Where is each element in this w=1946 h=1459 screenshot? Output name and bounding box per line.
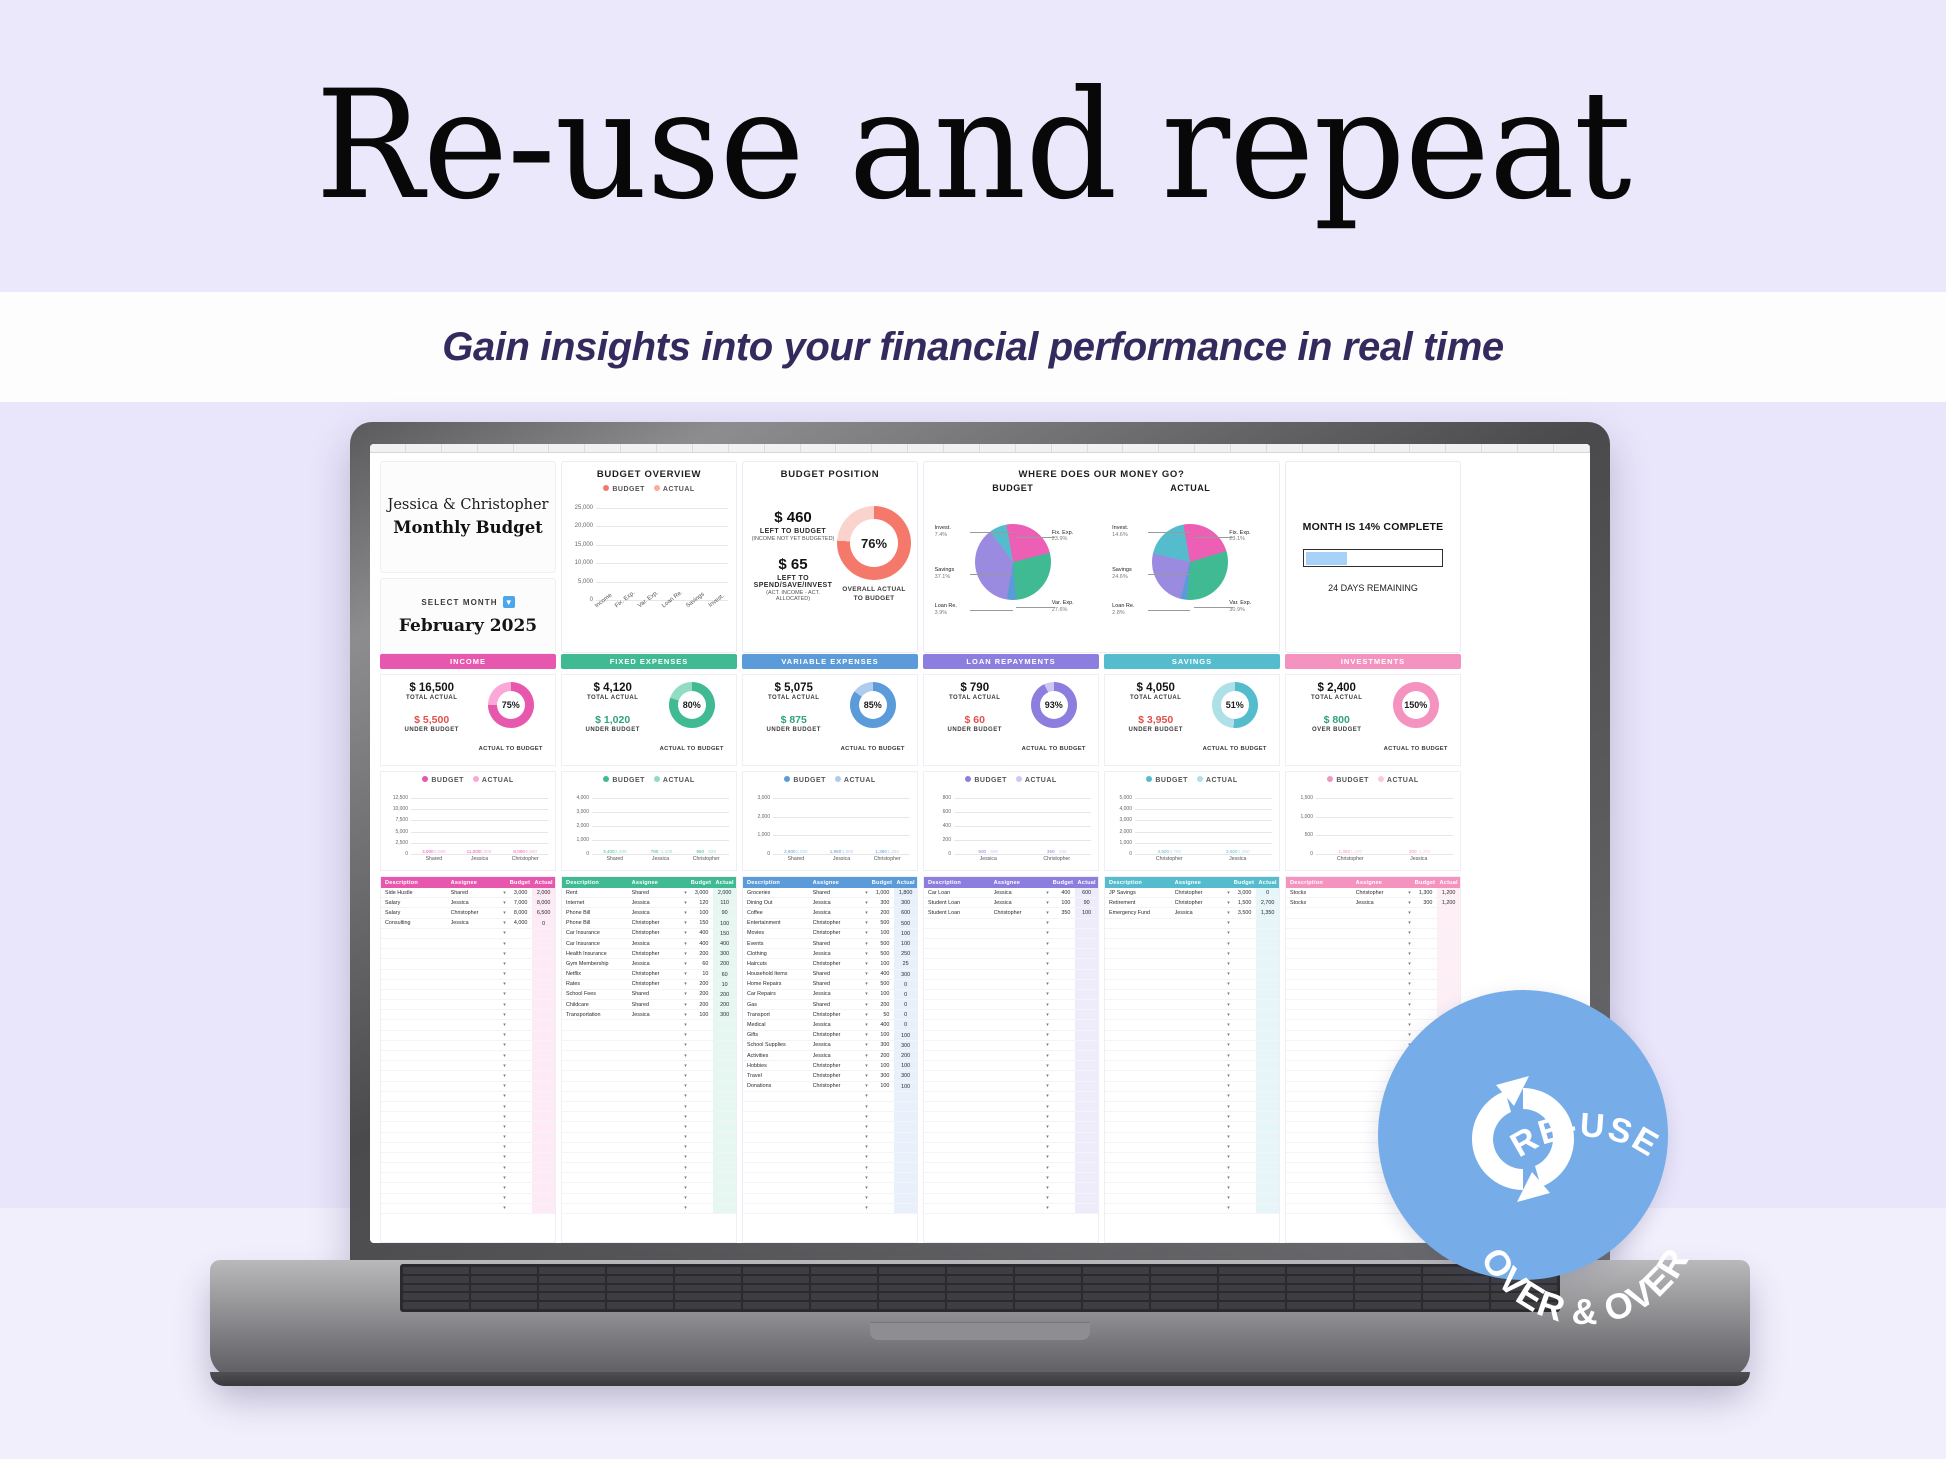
assignee-dropdown-icon[interactable]: ▾	[1223, 1093, 1233, 1099]
assignee-dropdown-icon[interactable]: ▾	[1223, 941, 1233, 947]
table-row[interactable]: ▾	[924, 980, 1098, 990]
table-row[interactable]: ▾	[924, 1122, 1098, 1132]
cell-assignee[interactable]: Jessica	[632, 900, 681, 906]
cell-description[interactable]: Donations	[743, 1083, 813, 1089]
assignee-dropdown-icon[interactable]: ▾	[680, 1104, 690, 1110]
table-row[interactable]: ▾	[924, 1020, 1098, 1030]
cell-actual[interactable]	[1256, 1183, 1279, 1192]
cell-actual[interactable]	[1256, 939, 1279, 948]
assignee-dropdown-icon[interactable]: ▾	[1042, 1073, 1052, 1079]
table-row[interactable]: ▾	[562, 1102, 736, 1112]
cell-actual[interactable]	[1075, 1000, 1098, 1009]
cell-actual[interactable]	[1256, 1133, 1279, 1142]
table-row[interactable]: ▾	[562, 1153, 736, 1163]
assignee-dropdown-icon[interactable]: ▾	[861, 1022, 871, 1028]
cell-actual[interactable]: 110	[713, 898, 736, 907]
table-row[interactable]: ▾	[1286, 970, 1460, 980]
cell-budget[interactable]: 200	[691, 981, 714, 987]
table-row[interactable]: ▾	[381, 1163, 555, 1173]
table-row[interactable]: Household ItemsShared▾400300	[743, 970, 917, 980]
cell-description[interactable]: Salary	[381, 900, 451, 906]
cell-description[interactable]: Clothing	[743, 951, 813, 957]
table-row[interactable]: ▾	[743, 1143, 917, 1153]
assignee-dropdown-icon[interactable]: ▾	[861, 1083, 871, 1089]
cell-actual[interactable]	[1256, 1092, 1279, 1101]
table-row[interactable]: Emergency FundJessica▾3,5001,350	[1105, 908, 1279, 918]
cell-budget[interactable]: 300	[1415, 900, 1438, 906]
assignee-dropdown-icon[interactable]: ▾	[1042, 1175, 1052, 1181]
cell-description[interactable]: Medical	[743, 1022, 813, 1028]
table-row[interactable]: ▾	[381, 1000, 555, 1010]
table-row[interactable]: ▾	[924, 1071, 1098, 1081]
table-row[interactable]: HaircutsChristopher▾10025	[743, 959, 917, 969]
cell-actual[interactable]: 300	[713, 949, 736, 958]
assignee-dropdown-icon[interactable]: ▾	[861, 1154, 871, 1160]
cell-actual[interactable]	[713, 1092, 736, 1101]
cell-actual[interactable]	[1256, 959, 1279, 968]
table-row[interactable]: ▾	[381, 1194, 555, 1204]
table-row[interactable]: ▾	[924, 1183, 1098, 1193]
table-row[interactable]: GiftsChristopher▾100100	[743, 1031, 917, 1041]
table-row[interactable]: ▾	[924, 939, 1098, 949]
cell-actual[interactable]	[894, 1183, 917, 1192]
cell-actual[interactable]	[713, 1041, 736, 1050]
cell-description[interactable]: Stocks	[1286, 900, 1356, 906]
assignee-dropdown-icon[interactable]: ▾	[680, 1185, 690, 1191]
assignee-dropdown-icon[interactable]: ▾	[861, 1185, 871, 1191]
cell-actual[interactable]	[1256, 1112, 1279, 1121]
cell-assignee[interactable]: Jessica	[451, 920, 500, 926]
table-row[interactable]: ▾	[743, 1122, 917, 1132]
assignee-dropdown-icon[interactable]: ▾	[680, 1042, 690, 1048]
table-row[interactable]: ▾	[743, 1102, 917, 1112]
cell-actual[interactable]	[1437, 949, 1460, 958]
assignee-dropdown-icon[interactable]: ▾	[1404, 991, 1414, 997]
table-row[interactable]: ▾	[1105, 939, 1279, 949]
table-row[interactable]: ▾	[1105, 1031, 1279, 1041]
assignee-dropdown-icon[interactable]: ▾	[499, 930, 509, 936]
cell-actual[interactable]	[1075, 939, 1098, 948]
assignee-dropdown-icon[interactable]: ▾	[499, 1083, 509, 1089]
cell-assignee[interactable]: Jessica	[813, 951, 862, 957]
cell-actual[interactable]: 200	[713, 990, 736, 999]
assignee-dropdown-icon[interactable]: ▾	[1223, 930, 1233, 936]
assignee-dropdown-icon[interactable]: ▾	[680, 1002, 690, 1008]
table-row[interactable]: ▾	[1105, 1092, 1279, 1102]
table-row[interactable]: SalaryJessica▾7,0008,000	[381, 898, 555, 908]
cell-actual[interactable]	[1075, 990, 1098, 999]
assignee-dropdown-icon[interactable]: ▾	[1223, 961, 1233, 967]
assignee-dropdown-icon[interactable]: ▾	[1042, 1083, 1052, 1089]
cell-description[interactable]: Groceries	[743, 890, 813, 896]
cell-actual[interactable]: 6,500	[532, 908, 555, 917]
cell-actual[interactable]: 1,200	[1437, 898, 1460, 907]
cell-actual[interactable]	[894, 1143, 917, 1152]
table-row[interactable]: ▾	[1105, 1163, 1279, 1173]
cell-budget[interactable]: 400	[1053, 890, 1076, 896]
cell-actual[interactable]	[894, 1204, 917, 1213]
assignee-dropdown-icon[interactable]: ▾	[499, 1053, 509, 1059]
cell-description[interactable]: Phone Bill	[562, 920, 632, 926]
cell-budget[interactable]: 500	[872, 920, 895, 926]
cell-description[interactable]: Stocks	[1286, 890, 1356, 896]
cell-budget[interactable]: 200	[691, 951, 714, 957]
cell-description[interactable]: Car Repairs	[743, 991, 813, 997]
assignee-dropdown-icon[interactable]: ▾	[1042, 961, 1052, 967]
assignee-dropdown-icon[interactable]: ▾	[1223, 1195, 1233, 1201]
cell-assignee[interactable]: Jessica	[632, 910, 681, 916]
table-row[interactable]: ▾	[1105, 1183, 1279, 1193]
assignee-dropdown-icon[interactable]: ▾	[1223, 1053, 1233, 1059]
cell-budget[interactable]: 10	[691, 971, 714, 977]
assignee-dropdown-icon[interactable]: ▾	[1042, 941, 1052, 947]
cell-assignee[interactable]: Christopher	[1175, 900, 1224, 906]
table-row[interactable]: ▾	[924, 1163, 1098, 1173]
cell-actual[interactable]	[713, 1020, 736, 1029]
table-row[interactable]: ▾	[562, 1194, 736, 1204]
assignee-dropdown-icon[interactable]: ▾	[680, 1022, 690, 1028]
table-row[interactable]: ▾	[562, 1041, 736, 1051]
cell-actual[interactable]: 0	[894, 980, 917, 989]
table-row[interactable]: ▾	[743, 1194, 917, 1204]
assignee-dropdown-icon[interactable]: ▾	[680, 1083, 690, 1089]
assignee-dropdown-icon[interactable]: ▾	[1223, 1002, 1233, 1008]
cell-budget[interactable]: 300	[872, 1073, 895, 1079]
assignee-dropdown-icon[interactable]: ▾	[680, 1124, 690, 1130]
assignee-dropdown-icon[interactable]: ▾	[499, 1104, 509, 1110]
assignee-dropdown-icon[interactable]: ▾	[680, 1154, 690, 1160]
assignee-dropdown-icon[interactable]: ▾	[1223, 1124, 1233, 1130]
assignee-dropdown-icon[interactable]: ▾	[1223, 920, 1233, 926]
table-row[interactable]: ▾	[1105, 1173, 1279, 1183]
cell-assignee[interactable]: Christopher	[632, 951, 681, 957]
table-row[interactable]: ▾	[381, 959, 555, 969]
table-row[interactable]: ▾	[562, 1061, 736, 1071]
cell-actual[interactable]	[1075, 1163, 1098, 1172]
table-row[interactable]: Car LoanJessica▾400600	[924, 888, 1098, 898]
cell-actual[interactable]	[532, 929, 555, 938]
table-row[interactable]: ▾	[381, 1112, 555, 1122]
table-row[interactable]: ▾	[381, 1183, 555, 1193]
cell-actual[interactable]	[894, 1153, 917, 1162]
assignee-dropdown-icon[interactable]: ▾	[1223, 1114, 1233, 1120]
table-row[interactable]: ▾	[1105, 1112, 1279, 1122]
table-row[interactable]: ▾	[1105, 1071, 1279, 1081]
cell-assignee[interactable]: Christopher	[813, 1063, 862, 1069]
assignee-dropdown-icon[interactable]: ▾	[680, 1144, 690, 1150]
cell-actual[interactable]	[1256, 1000, 1279, 1009]
assignee-dropdown-icon[interactable]: ▾	[861, 1124, 871, 1130]
assignee-dropdown-icon[interactable]: ▾	[499, 900, 509, 906]
table-row[interactable]: NetflixChristopher▾1060	[562, 970, 736, 980]
table-row[interactable]: GasShared▾2000	[743, 1000, 917, 1010]
table-row[interactable]: EntertainmentChristopher▾500500	[743, 919, 917, 929]
assignee-dropdown-icon[interactable]: ▾	[680, 1195, 690, 1201]
table-row[interactable]: ▾	[1286, 990, 1460, 1000]
assignee-dropdown-icon[interactable]: ▾	[1223, 910, 1233, 916]
table-row[interactable]: SalaryChristopher▾8,0006,500	[381, 908, 555, 918]
cell-actual[interactable]	[532, 959, 555, 968]
cell-actual[interactable]: 1,200	[1437, 888, 1460, 897]
cell-actual[interactable]: 300	[894, 1041, 917, 1050]
assignee-dropdown-icon[interactable]: ▾	[499, 1154, 509, 1160]
assignee-dropdown-icon[interactable]: ▾	[680, 961, 690, 967]
table-row[interactable]: StocksJessica▾3001,200	[1286, 898, 1460, 908]
cell-actual[interactable]	[713, 1153, 736, 1162]
assignee-dropdown-icon[interactable]: ▾	[1042, 1093, 1052, 1099]
table-row[interactable]: ConsultingJessica▾4,0000	[381, 919, 555, 929]
cell-description[interactable]: Student Loan	[924, 900, 994, 906]
table-row[interactable]: ▾	[562, 1133, 736, 1143]
table-row[interactable]: Car RepairsJessica▾1000	[743, 990, 917, 1000]
cell-assignee[interactable]: Christopher	[813, 1083, 862, 1089]
cell-actual[interactable]: 100	[894, 1082, 917, 1091]
cell-actual[interactable]	[1075, 949, 1098, 958]
table-row[interactable]: EventsShared▾500100	[743, 939, 917, 949]
cell-budget[interactable]: 100	[1053, 900, 1076, 906]
cell-assignee[interactable]: Christopher	[813, 1073, 862, 1079]
cell-actual[interactable]	[1256, 1082, 1279, 1091]
cell-description[interactable]: Salary	[381, 910, 451, 916]
table-row[interactable]: Home RepairsShared▾5000	[743, 980, 917, 990]
assignee-dropdown-icon[interactable]: ▾	[680, 920, 690, 926]
assignee-dropdown-icon[interactable]: ▾	[861, 951, 871, 957]
cell-description[interactable]: Activities	[743, 1053, 813, 1059]
cell-assignee[interactable]: Christopher	[1356, 890, 1405, 896]
table-row[interactable]: Student LoanChristopher▾350100	[924, 908, 1098, 918]
assignee-dropdown-icon[interactable]: ▾	[861, 1093, 871, 1099]
table-row[interactable]: Dining OutJessica▾300300	[743, 898, 917, 908]
cell-budget[interactable]: 400	[691, 930, 714, 936]
table-row[interactable]: ▾	[381, 990, 555, 1000]
cell-budget[interactable]: 150	[691, 920, 714, 926]
table-row[interactable]: ▾	[924, 919, 1098, 929]
assignee-dropdown-icon[interactable]: ▾	[861, 971, 871, 977]
cell-actual[interactable]	[532, 1204, 555, 1213]
assignee-dropdown-icon[interactable]: ▾	[1042, 900, 1052, 906]
assignee-dropdown-icon[interactable]: ▾	[1404, 971, 1414, 977]
cell-assignee[interactable]: Jessica	[813, 1053, 862, 1059]
assignee-dropdown-icon[interactable]: ▾	[499, 1165, 509, 1171]
cell-assignee[interactable]: Shared	[813, 941, 862, 947]
cell-actual[interactable]	[1256, 1102, 1279, 1111]
table-row[interactable]: ▾	[381, 1122, 555, 1132]
table-row[interactable]: ▾	[1105, 990, 1279, 1000]
table-row[interactable]: ▾	[381, 1153, 555, 1163]
cell-actual[interactable]	[713, 1031, 736, 1040]
table-row[interactable]: Health InsuranceChristopher▾200300	[562, 949, 736, 959]
assignee-dropdown-icon[interactable]: ▾	[861, 941, 871, 947]
cell-actual[interactable]: 200	[894, 1051, 917, 1060]
table-row[interactable]: ▾	[924, 1133, 1098, 1143]
assignee-dropdown-icon[interactable]: ▾	[499, 1002, 509, 1008]
cell-actual[interactable]	[713, 1071, 736, 1080]
table-row[interactable]: ▾	[381, 1092, 555, 1102]
cell-assignee[interactable]: Christopher	[632, 930, 681, 936]
assignee-dropdown-icon[interactable]: ▾	[1223, 1073, 1233, 1079]
cell-budget[interactable]: 8,000	[510, 910, 533, 916]
cell-actual[interactable]	[1256, 970, 1279, 979]
assignee-dropdown-icon[interactable]: ▾	[1404, 1032, 1414, 1038]
assignee-dropdown-icon[interactable]: ▾	[680, 1134, 690, 1140]
assignee-dropdown-icon[interactable]: ▾	[1404, 1022, 1414, 1028]
cell-assignee[interactable]: Christopher	[813, 920, 862, 926]
assignee-dropdown-icon[interactable]: ▾	[499, 1114, 509, 1120]
assignee-dropdown-icon[interactable]: ▾	[1223, 1012, 1233, 1018]
table-row[interactable]: ▾	[924, 1112, 1098, 1122]
cell-actual[interactable]	[894, 1122, 917, 1131]
assignee-dropdown-icon[interactable]: ▾	[1223, 1134, 1233, 1140]
assignee-dropdown-icon[interactable]: ▾	[1042, 1195, 1052, 1201]
cell-actual[interactable]	[713, 1102, 736, 1111]
table-row[interactable]: DonationsChristopher▾100100	[743, 1082, 917, 1092]
table-row[interactable]: ▾	[743, 1112, 917, 1122]
cell-actual[interactable]	[1075, 1071, 1098, 1080]
cell-actual[interactable]	[713, 1082, 736, 1091]
assignee-dropdown-icon[interactable]: ▾	[680, 1063, 690, 1069]
assignee-dropdown-icon[interactable]: ▾	[1042, 1032, 1052, 1038]
cell-assignee[interactable]: Shared	[813, 1002, 862, 1008]
cell-actual[interactable]	[1075, 1020, 1098, 1029]
cell-actual[interactable]: 0	[894, 990, 917, 999]
assignee-dropdown-icon[interactable]: ▾	[861, 1073, 871, 1079]
assignee-dropdown-icon[interactable]: ▾	[1223, 1205, 1233, 1211]
cell-actual[interactable]: 200	[713, 959, 736, 968]
cell-actual[interactable]	[532, 1020, 555, 1029]
table-row[interactable]: ▾	[562, 1051, 736, 1061]
table-row[interactable]: ▾	[381, 949, 555, 959]
cell-actual[interactable]: 0	[1256, 888, 1279, 897]
cell-actual[interactable]: 25	[894, 959, 917, 968]
cell-actual[interactable]	[1075, 929, 1098, 938]
assignee-dropdown-icon[interactable]: ▾	[499, 1042, 509, 1048]
assignee-dropdown-icon[interactable]: ▾	[1042, 1012, 1052, 1018]
cell-description[interactable]: Car Loan	[924, 890, 994, 896]
cell-actual[interactable]: 300	[894, 970, 917, 979]
assignee-dropdown-icon[interactable]: ▾	[1042, 920, 1052, 926]
cell-description[interactable]: Netflix	[562, 971, 632, 977]
assignee-dropdown-icon[interactable]: ▾	[1223, 1104, 1233, 1110]
table-row[interactable]: School SuppliesJessica▾300300	[743, 1041, 917, 1051]
table-row[interactable]: ▾	[562, 1031, 736, 1041]
cell-budget[interactable]: 400	[872, 1022, 895, 1028]
cell-budget[interactable]: 100	[872, 1032, 895, 1038]
table-row[interactable]: ▾	[924, 1153, 1098, 1163]
cell-assignee[interactable]: Jessica	[1175, 910, 1224, 916]
cell-budget[interactable]: 300	[872, 1042, 895, 1048]
table-row[interactable]: ▾	[1105, 1133, 1279, 1143]
cell-actual[interactable]	[1256, 1153, 1279, 1162]
cell-actual[interactable]	[713, 1143, 736, 1152]
assignee-dropdown-icon[interactable]: ▾	[499, 1063, 509, 1069]
assignee-dropdown-icon[interactable]: ▾	[1223, 1144, 1233, 1150]
cell-actual[interactable]: 400	[713, 939, 736, 948]
table-row[interactable]: ▾	[381, 939, 555, 949]
cell-actual[interactable]	[532, 1153, 555, 1162]
dropdown-icon[interactable]: ▼	[503, 596, 515, 608]
table-row[interactable]: ▾	[1105, 1020, 1279, 1030]
cell-description[interactable]: JP Savings	[1105, 890, 1175, 896]
cell-actual[interactable]	[1437, 939, 1460, 948]
assignee-dropdown-icon[interactable]: ▾	[861, 991, 871, 997]
assignee-dropdown-icon[interactable]: ▾	[861, 1144, 871, 1150]
assignee-dropdown-icon[interactable]: ▾	[499, 951, 509, 957]
table-row[interactable]: ActivitiesJessica▾200200	[743, 1051, 917, 1061]
cell-budget[interactable]: 350	[1053, 910, 1076, 916]
table-row[interactable]: ▾	[924, 1082, 1098, 1092]
assignee-dropdown-icon[interactable]: ▾	[861, 1134, 871, 1140]
cell-actual[interactable]	[713, 1163, 736, 1172]
cell-assignee[interactable]: Jessica	[813, 900, 862, 906]
cell-actual[interactable]: 90	[713, 908, 736, 917]
cell-actual[interactable]	[1437, 990, 1460, 999]
table-row[interactable]: ▾	[1105, 1000, 1279, 1010]
cell-actual[interactable]: 1,800	[894, 888, 917, 897]
table-row[interactable]: ▾	[1105, 959, 1279, 969]
cell-actual[interactable]	[532, 1173, 555, 1182]
cell-actual[interactable]	[1256, 1031, 1279, 1040]
cell-actual[interactable]	[1075, 1194, 1098, 1203]
table-row[interactable]: ▾	[1105, 929, 1279, 939]
assignee-dropdown-icon[interactable]: ▾	[861, 981, 871, 987]
assignee-dropdown-icon[interactable]: ▾	[499, 1175, 509, 1181]
cell-actual[interactable]	[1437, 980, 1460, 989]
assignee-dropdown-icon[interactable]: ▾	[499, 941, 509, 947]
cell-actual[interactable]	[1437, 908, 1460, 917]
cell-actual[interactable]: 0	[894, 1010, 917, 1019]
table-row[interactable]: ▾	[562, 1204, 736, 1214]
assignee-dropdown-icon[interactable]: ▾	[861, 1205, 871, 1211]
assignee-dropdown-icon[interactable]: ▾	[499, 890, 509, 896]
assignee-dropdown-icon[interactable]: ▾	[1042, 890, 1052, 896]
cell-actual[interactable]: 100	[894, 1031, 917, 1040]
cell-description[interactable]: Home Repairs	[743, 981, 813, 987]
table-row[interactable]: ▾	[1105, 970, 1279, 980]
table-row[interactable]: ▾	[1286, 919, 1460, 929]
assignee-dropdown-icon[interactable]: ▾	[1223, 971, 1233, 977]
cell-actual[interactable]	[1075, 1041, 1098, 1050]
assignee-dropdown-icon[interactable]: ▾	[499, 1022, 509, 1028]
table-row[interactable]: ClothingJessica▾500250	[743, 949, 917, 959]
table-row[interactable]: ▾	[1105, 949, 1279, 959]
table-row[interactable]: ▾	[924, 990, 1098, 1000]
cell-actual[interactable]	[532, 1031, 555, 1040]
assignee-dropdown-icon[interactable]: ▾	[1223, 1165, 1233, 1171]
table-row[interactable]: JP SavingsChristopher▾3,0000	[1105, 888, 1279, 898]
cell-actual[interactable]: 300	[894, 898, 917, 907]
cell-description[interactable]: Rent	[562, 890, 632, 896]
cell-actual[interactable]: 90	[1075, 898, 1098, 907]
table-row[interactable]: ▾	[381, 1020, 555, 1030]
table-row[interactable]: ▾	[381, 1133, 555, 1143]
cell-assignee[interactable]: Jessica	[632, 961, 681, 967]
cell-budget[interactable]: 1,500	[1234, 900, 1257, 906]
cell-actual[interactable]: 250	[894, 949, 917, 958]
cell-actual[interactable]	[713, 1112, 736, 1121]
cell-description[interactable]: Gas	[743, 1002, 813, 1008]
cell-actual[interactable]	[713, 1204, 736, 1213]
cell-assignee[interactable]: Christopher	[813, 1032, 862, 1038]
assignee-dropdown-icon[interactable]: ▾	[1223, 1185, 1233, 1191]
assignee-dropdown-icon[interactable]: ▾	[1042, 1205, 1052, 1211]
cell-actual[interactable]	[1075, 1051, 1098, 1060]
cell-actual[interactable]: 0	[894, 1000, 917, 1009]
cell-actual[interactable]	[532, 1010, 555, 1019]
assignee-dropdown-icon[interactable]: ▾	[680, 991, 690, 997]
cell-actual[interactable]	[1256, 1194, 1279, 1203]
assignee-dropdown-icon[interactable]: ▾	[1042, 1022, 1052, 1028]
assignee-dropdown-icon[interactable]: ▾	[680, 930, 690, 936]
